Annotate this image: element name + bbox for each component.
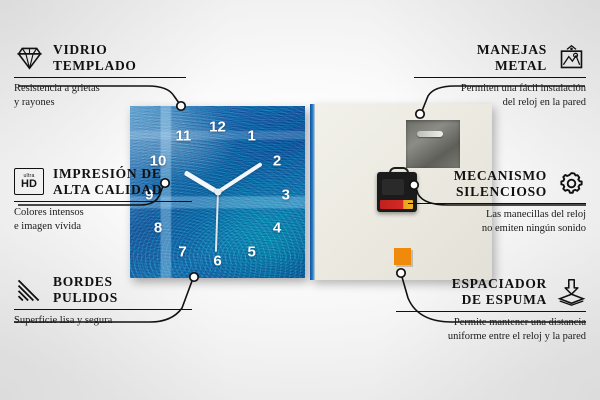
metal-hanger-plate xyxy=(406,120,460,168)
callout-divider xyxy=(408,203,586,204)
callout-divider xyxy=(14,77,186,78)
callout-desc-line1: Permiten una fácil instalación xyxy=(414,82,586,96)
callout-title: VIDRIO TEMPLADO xyxy=(53,42,137,74)
wall-hanging-frame-icon xyxy=(556,43,586,73)
clock-numeral-6: 6 xyxy=(213,253,221,268)
callout-description: Permiten una fácil instalación del reloj… xyxy=(414,82,586,110)
callout-description: Las manecillas del reloj no emiten ningú… xyxy=(408,208,586,236)
callout-title-line2: ALTA CALIDAD xyxy=(53,182,162,198)
callout-title-line2: PULIDOS xyxy=(53,290,118,306)
callout-title: ESPACIADOR DE ESPUMA xyxy=(452,276,547,308)
callout-head: BORDES PULIDOS xyxy=(14,274,192,306)
mechanism-housing-detail xyxy=(382,179,404,195)
clock-numeral-2: 2 xyxy=(273,154,281,169)
foam-spacer-pad xyxy=(394,248,411,265)
clock-numeral-12: 12 xyxy=(209,119,226,134)
callout-title-line2: METAL xyxy=(477,58,547,74)
callout-head: VIDRIO TEMPLADO xyxy=(14,42,186,74)
callout-description: Superficie lisa y segura xyxy=(14,314,192,328)
gear-icon xyxy=(556,169,586,199)
polished-edges-icon xyxy=(14,275,44,305)
product-infographic: 12 1 2 3 4 5 6 7 8 9 10 11 xyxy=(0,0,600,400)
ultra-hd-badge-icon: ultra HD xyxy=(14,167,44,197)
callout-bordes-pulidos: BORDES PULIDOS Superficie lisa y segura xyxy=(14,274,192,328)
callout-title-line1: VIDRIO xyxy=(53,42,137,58)
callout-title-line2: DE ESPUMA xyxy=(452,292,547,308)
callout-desc-line1: Resistencia a grietas xyxy=(14,82,186,96)
callout-title: MANEJAS METAL xyxy=(477,42,547,74)
hanger-slot xyxy=(417,131,443,137)
mechanism-hanging-loop xyxy=(389,167,409,177)
callout-description: Colores intensos e imagen vívida xyxy=(14,206,192,234)
callout-desc-line2: no emiten ningún sonido xyxy=(408,222,586,236)
hd-badge-main-text: HD xyxy=(21,179,37,190)
callout-title: MECANISMO SILENCIOSO xyxy=(454,168,547,200)
callout-impresion-alta-calidad: ultra HD IMPRESIÓN DE ALTA CALIDAD Color… xyxy=(14,166,192,234)
callout-desc-line2: y rayones xyxy=(14,96,186,110)
callout-divider xyxy=(414,77,586,78)
callout-desc-line2: e imagen vívida xyxy=(14,220,192,234)
callout-description: Resistencia a grietas y rayones xyxy=(14,82,186,110)
callout-head: ultra HD IMPRESIÓN DE ALTA CALIDAD xyxy=(14,166,192,198)
callout-title-line1: MECANISMO xyxy=(454,168,547,184)
panel-edge-strip xyxy=(310,104,315,280)
foam-spacer-arrow-icon xyxy=(556,277,586,307)
clock-numeral-11: 11 xyxy=(175,129,191,144)
callout-description: Permite mantener una distancia uniforme … xyxy=(396,316,586,344)
callout-desc-line2: del reloj en la pared xyxy=(414,96,586,110)
callout-head: MANEJAS METAL xyxy=(414,42,586,74)
hd-badge: ultra HD xyxy=(14,168,44,195)
callout-desc-line1: Colores intensos xyxy=(14,206,192,220)
callout-divider xyxy=(14,201,192,202)
clock-numeral-5: 5 xyxy=(247,245,255,260)
callout-mecanismo-silencioso: MECANISMO SILENCIOSO Las manecillas del … xyxy=(408,168,586,236)
callout-espaciador-espuma: ESPACIADOR DE ESPUMA Permite mantener un… xyxy=(396,276,586,344)
callout-divider xyxy=(14,309,192,310)
callout-desc-line1: Superficie lisa y segura xyxy=(14,314,192,328)
callout-divider xyxy=(396,311,586,312)
callout-desc-line1: Las manecillas del reloj xyxy=(408,208,586,222)
callout-desc-line2: uniforme entre el reloj y la pared xyxy=(396,330,586,344)
callout-title-line1: MANEJAS xyxy=(477,42,547,58)
clock-numeral-1: 1 xyxy=(247,129,255,144)
callout-title: BORDES PULIDOS xyxy=(53,274,118,306)
callout-title-line1: BORDES xyxy=(53,274,118,290)
clock-hand-cap xyxy=(214,189,221,196)
callout-title-line2: SILENCIOSO xyxy=(454,184,547,200)
callout-vidrio-templado: VIDRIO TEMPLADO Resistencia a grietas y … xyxy=(14,42,186,110)
callout-head: ESPACIADOR DE ESPUMA xyxy=(396,276,586,308)
callout-title-line1: ESPACIADOR xyxy=(452,276,547,292)
clock-numeral-7: 7 xyxy=(178,245,186,260)
clock-numeral-3: 3 xyxy=(282,188,290,203)
callout-title-line1: IMPRESIÓN DE xyxy=(53,166,162,182)
callout-head: MECANISMO SILENCIOSO xyxy=(408,168,586,200)
callout-title-line2: TEMPLADO xyxy=(53,58,137,74)
diamond-icon xyxy=(14,43,44,73)
clock-numeral-4: 4 xyxy=(273,221,281,236)
callout-title: IMPRESIÓN DE ALTA CALIDAD xyxy=(53,166,162,198)
callout-desc-line1: Permite mantener una distancia xyxy=(396,316,586,330)
callout-manejas-metal: MANEJAS METAL Permiten una fácil instala… xyxy=(414,42,586,110)
